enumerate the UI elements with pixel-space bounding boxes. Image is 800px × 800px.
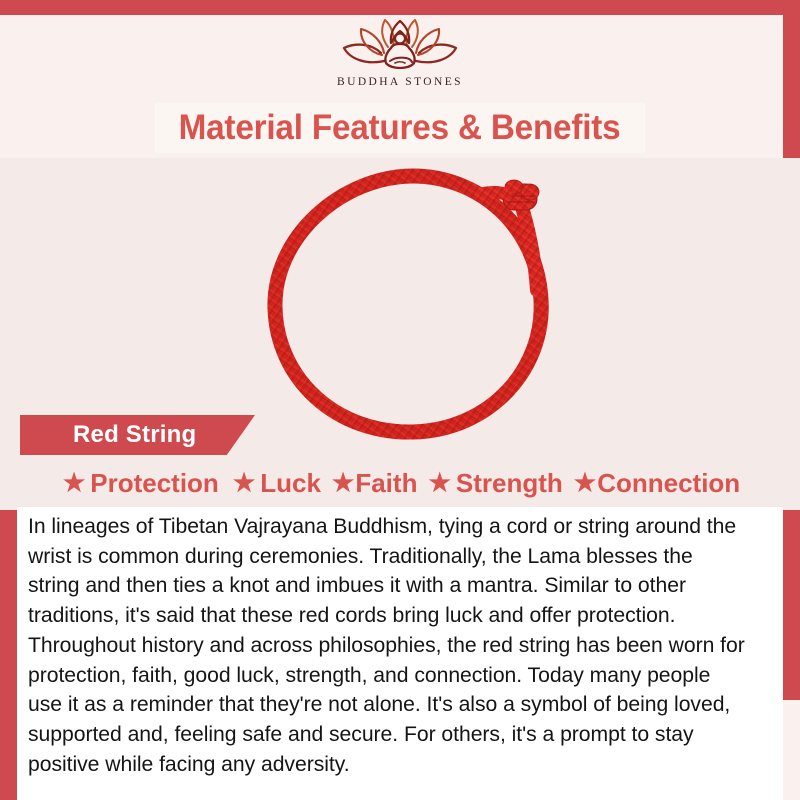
brand-logo: BUDDHA STONES [0, 15, 800, 100]
star-icon: ★ [332, 471, 354, 496]
brand-name: BUDDHA STONES [337, 76, 463, 88]
material-ribbon: Red String [20, 415, 255, 455]
benefit-label: Luck [260, 468, 321, 499]
benefit-label: Protection [90, 468, 219, 499]
description-panel: In lineages of Tibetan Vajrayana Buddhis… [17, 507, 783, 800]
description-text: In lineages of Tibetan Vajrayana Buddhis… [28, 512, 750, 779]
title-banner: Material Features & Benefits [155, 103, 645, 153]
top-accent-bar [0, 0, 800, 15]
benefit-item-faith: ★ Faith [328, 468, 422, 499]
page-title: Material Features & Benefits [179, 108, 621, 148]
lotus-meditation-icon [338, 15, 462, 75]
material-features-poster: BUDDHA STONES Material Features & Benefi… [0, 0, 800, 800]
benefit-item-strength: ★ Strength [421, 468, 569, 499]
benefit-item-connection: ★ Connection [570, 468, 744, 499]
product-image-panel [0, 158, 800, 510]
star-icon: ★ [233, 471, 255, 496]
star-icon: ★ [574, 471, 596, 496]
material-label: Red String [73, 421, 196, 449]
star-icon: ★ [63, 471, 85, 496]
star-icon: ★ [428, 471, 450, 496]
benefit-label: Connection [597, 468, 740, 499]
red-braided-string-bracelet [245, 168, 575, 468]
benefit-item-luck: ★ Luck [226, 468, 328, 499]
benefit-item-protection: ★ Protection [56, 468, 226, 499]
benefit-label: Faith [355, 468, 417, 499]
benefits-row: ★ Protection ★ Luck ★ Faith ★ Strength ★… [0, 462, 800, 504]
benefit-label: Strength [456, 468, 563, 499]
